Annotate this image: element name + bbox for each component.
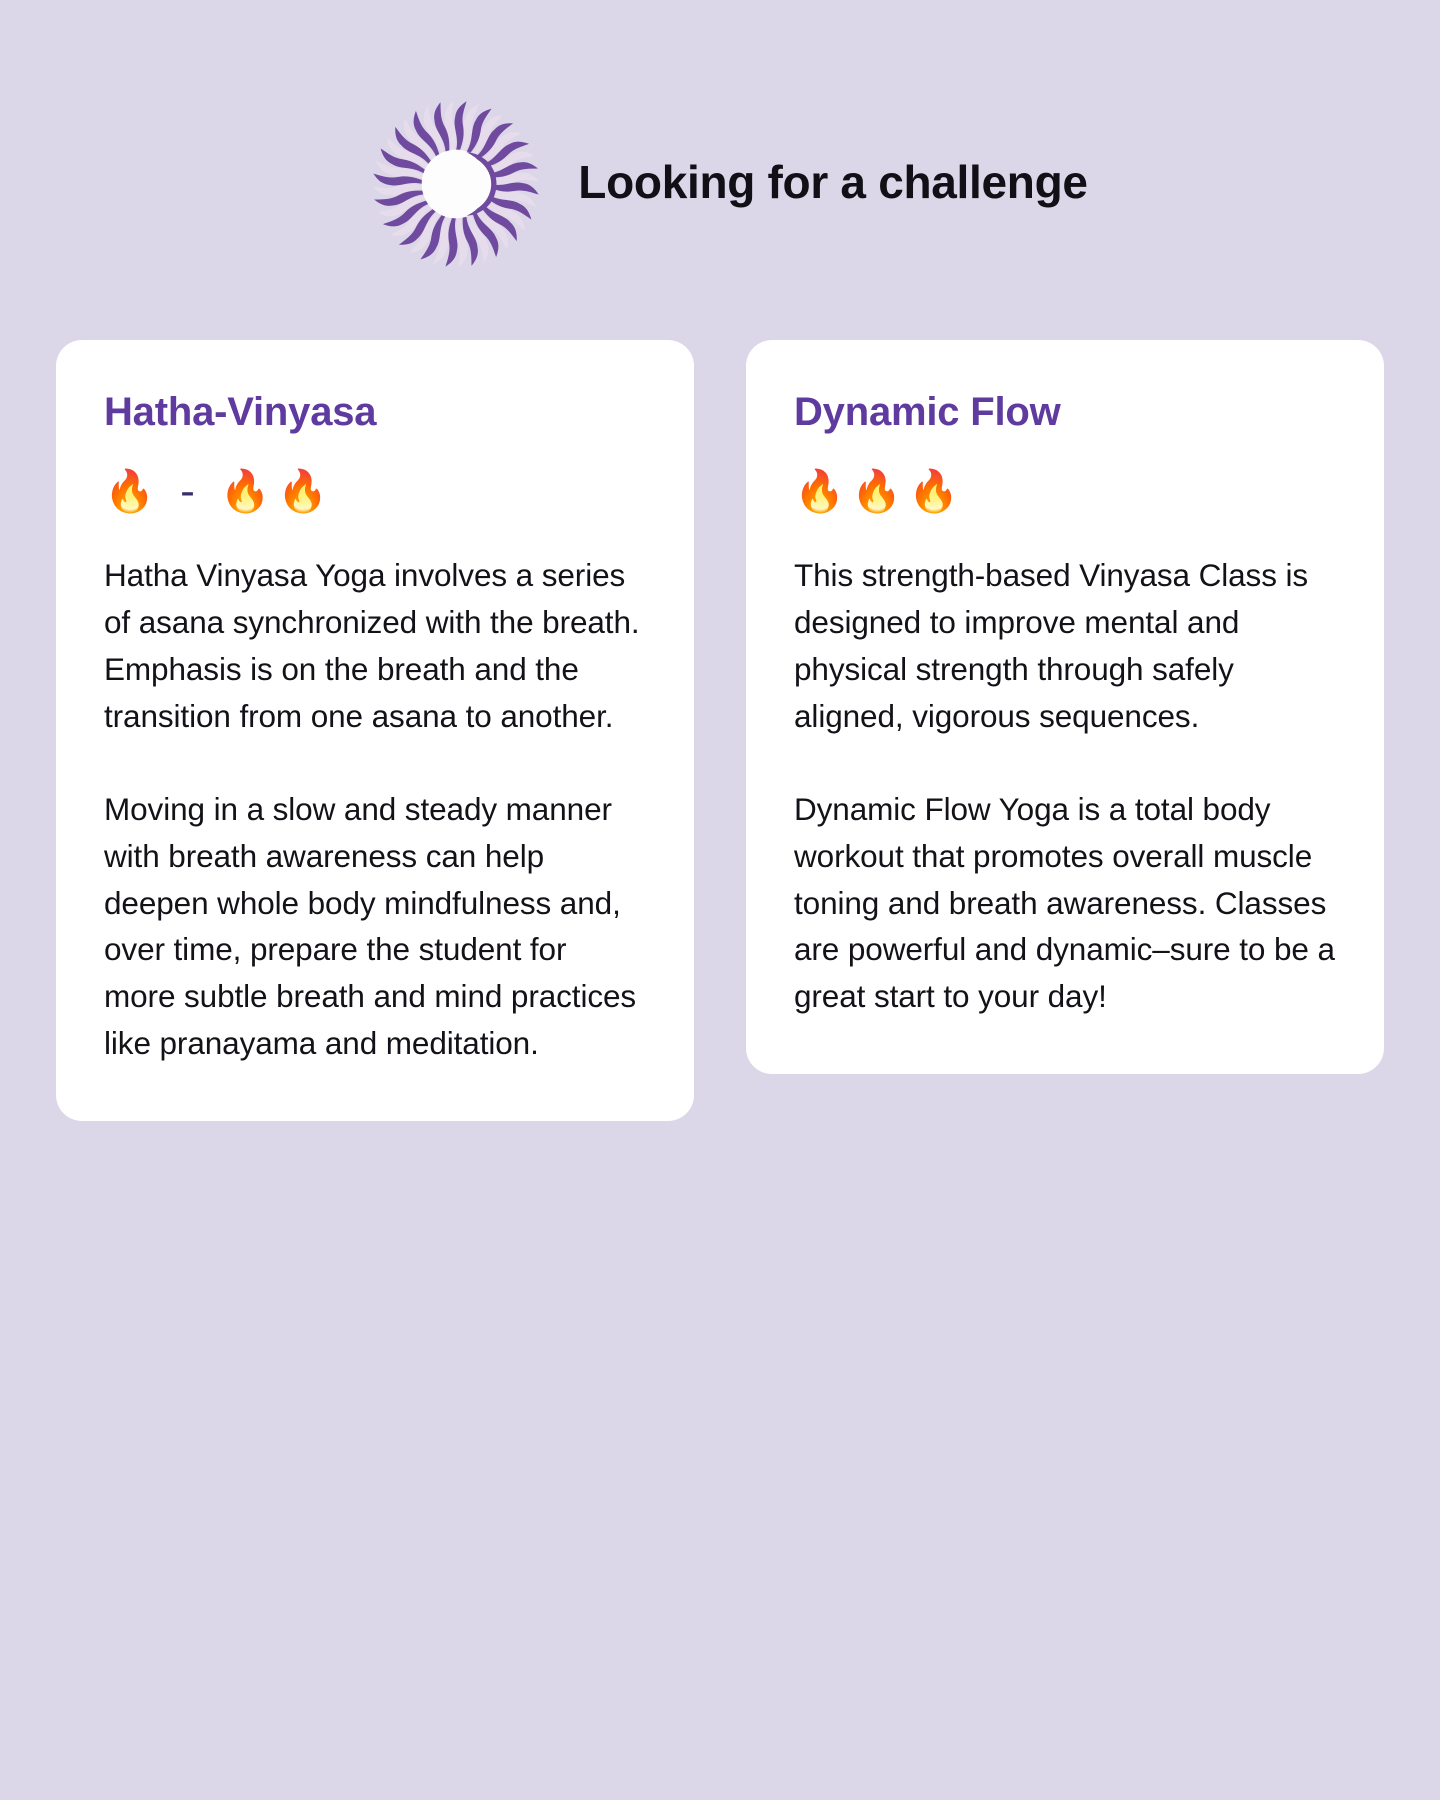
card-paragraph: Moving in a slow and steady manner with … bbox=[104, 786, 646, 1068]
card-paragraph: Hatha Vinyasa Yoga involves a series of … bbox=[104, 552, 646, 740]
sun-moon-icon bbox=[368, 96, 544, 272]
intensity-rating: 🔥 - 🔥🔥 bbox=[104, 460, 646, 522]
card-paragraph: This strength-based Vinyasa Class is des… bbox=[794, 552, 1336, 740]
fire-icon: 🔥 - 🔥🔥 bbox=[104, 471, 334, 512]
page-title: Looking for a challenge bbox=[578, 159, 1087, 209]
class-card-dynamic-flow[interactable]: Dynamic Flow 🔥🔥🔥 This strength-based Vin… bbox=[746, 340, 1384, 1074]
class-card-hatha-vinyasa[interactable]: Hatha-Vinyasa 🔥 - 🔥🔥 Hatha Vinyasa Yoga … bbox=[56, 340, 694, 1121]
card-body: Hatha Vinyasa Yoga involves a series of … bbox=[104, 552, 646, 1067]
card-title: Hatha-Vinyasa bbox=[104, 390, 646, 434]
card-paragraph: Dynamic Flow Yoga is a total body workou… bbox=[794, 786, 1336, 1021]
intensity-rating: 🔥🔥🔥 bbox=[794, 460, 1336, 522]
card-body: This strength-based Vinyasa Class is des… bbox=[794, 552, 1336, 1020]
card-title: Dynamic Flow bbox=[794, 390, 1336, 434]
class-card-list: Hatha-Vinyasa 🔥 - 🔥🔥 Hatha Vinyasa Yoga … bbox=[0, 340, 1440, 1121]
page-header: Looking for a challenge bbox=[0, 0, 1440, 272]
fire-icon: 🔥🔥🔥 bbox=[794, 471, 965, 512]
